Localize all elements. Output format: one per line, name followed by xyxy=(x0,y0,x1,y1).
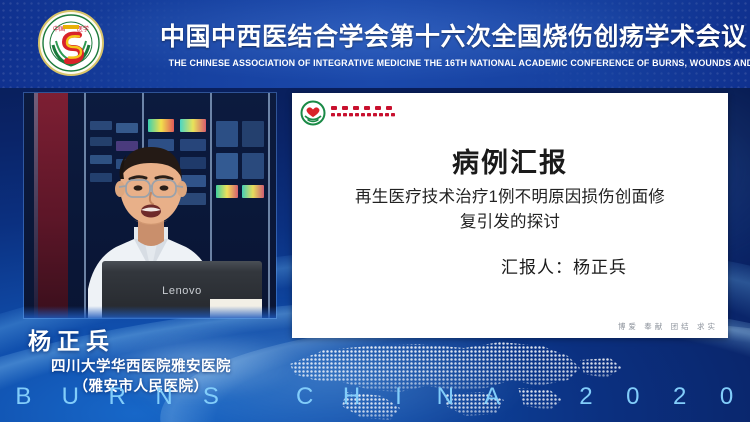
studio-divider-4 xyxy=(268,93,270,318)
broadcast-screen: 中国医学 中国中西医结合学会第十六次全国烧伤创疡学术会议 THE CHINESE… xyxy=(0,0,750,422)
presentation-slide[interactable]: 病例汇报 再生医疗技术治疗1例不明原因损伤创面修 复引发的探讨 汇报人：杨正兵 … xyxy=(292,93,728,338)
video-bottom-fade xyxy=(24,306,276,318)
speaker-org-line2: （雅安市人民医院） xyxy=(36,375,246,396)
studio-screen xyxy=(242,153,264,179)
laptop-brand-label: Lenovo xyxy=(102,285,262,297)
world-map-dots-icon xyxy=(250,330,670,422)
slide-footer-motto: 博爱 奉献 团结 求实 xyxy=(618,321,718,332)
slide-subtitle-line2: 复引发的探讨 xyxy=(326,210,694,235)
slide-presenter: 汇报人：杨正兵 xyxy=(292,253,728,278)
speaker-org-line1: 四川大学华西医院雅安医院 xyxy=(36,355,246,376)
slide-subtitle-line1: 再生医疗技术治疗1例不明原因损伤创面修 xyxy=(326,185,694,210)
studio-red-panel xyxy=(38,93,68,318)
hospital-logo xyxy=(300,100,420,126)
slide-title: 病例汇报 xyxy=(292,141,728,180)
watermark-letter: 0 xyxy=(703,383,750,411)
conference-title-en: THE CHINESE ASSOCIATION OF INTEGRATIVE M… xyxy=(169,57,727,69)
slide-subtitle: 再生医疗技术治疗1例不明原因损伤创面修 复引发的探讨 xyxy=(326,185,694,235)
studio-screen xyxy=(216,185,238,198)
speaker-name: 杨正兵 xyxy=(28,322,115,356)
conference-header-banner: 中国医学 中国中西医结合学会第十六次全国烧伤创疡学术会议 THE CHINESE… xyxy=(0,0,750,88)
studio-screen xyxy=(216,121,238,147)
studio-screen xyxy=(242,121,264,147)
speaker-video-panel[interactable]: Lenovo xyxy=(24,93,276,318)
studio-screen xyxy=(216,153,238,179)
studio-screen xyxy=(242,185,264,198)
association-emblem-icon: 中国医学 xyxy=(37,9,105,77)
conference-title-cn: 中国中西医结合学会第十六次全国烧伤创疡学术会议 xyxy=(160,21,735,53)
